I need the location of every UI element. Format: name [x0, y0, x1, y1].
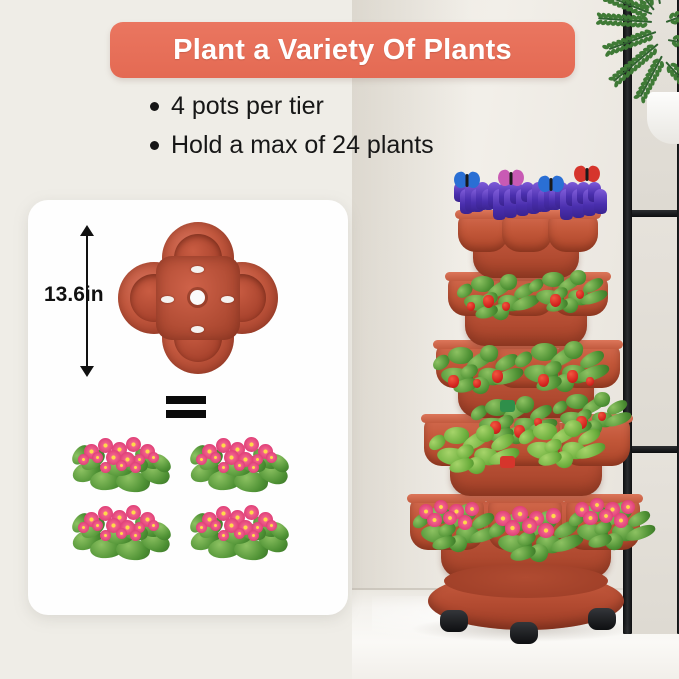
flower-blossom — [546, 508, 562, 524]
primrose-plant — [70, 500, 174, 562]
flower-blossom — [266, 452, 277, 463]
butterfly-body — [466, 174, 469, 187]
bullet-label: Hold a max of 24 plants — [171, 131, 434, 160]
planter-slot — [161, 296, 174, 303]
lavender-stem — [594, 189, 607, 214]
flower-blossom — [621, 500, 635, 514]
bullet-dot-icon — [150, 102, 159, 111]
flower-blossom — [126, 437, 141, 452]
tower-foliage — [514, 336, 598, 384]
infographic-canvas: Plant a Variety Of Plants 4 pots per tie… — [0, 0, 679, 679]
arrow-down-icon — [80, 366, 94, 377]
flower-blossom — [505, 520, 521, 536]
planter-slot — [191, 266, 204, 273]
strawberry-fruit — [550, 294, 561, 307]
strawberry-fruit — [448, 375, 459, 388]
planter-slot — [191, 326, 204, 333]
planter-top-view — [118, 222, 278, 374]
butterfly-decoration — [498, 170, 524, 187]
flower-blossom — [92, 452, 103, 463]
strawberry-fruit — [586, 377, 594, 386]
planter-slot — [221, 296, 234, 303]
flower-blossom — [248, 462, 259, 473]
flower-blossom — [210, 520, 221, 531]
flower-blossom — [583, 511, 597, 525]
flower-blossom — [196, 454, 207, 465]
tier-pot-cup — [548, 214, 598, 252]
strawberry-fruit — [467, 302, 475, 311]
flower-blossom — [210, 452, 221, 463]
plant-leaf — [475, 424, 495, 443]
butterfly-decoration — [454, 172, 480, 189]
banner-title: Plant a Variety Of Plants — [173, 34, 512, 67]
flower-blossom — [218, 462, 229, 473]
caster-wheel — [588, 608, 616, 630]
strawberry-fruit — [576, 290, 584, 299]
flower-blossom — [130, 462, 141, 473]
primrose-plant — [188, 432, 292, 494]
flower-blossom — [522, 518, 538, 534]
bullet-dot-icon — [150, 141, 159, 150]
flower-blossom — [130, 530, 141, 541]
plant-marker-pick — [500, 456, 515, 468]
title-banner: Plant a Variety Of Plants — [110, 22, 575, 78]
flower-blossom — [92, 520, 103, 531]
tower-foliage — [432, 340, 513, 386]
flower-blossom — [116, 460, 127, 471]
strawberry-fruit — [598, 412, 606, 421]
flower-blossom — [248, 530, 259, 541]
tower-foliage — [568, 498, 645, 542]
tower-foliage — [518, 416, 595, 460]
dimension-label: 13.6in — [44, 283, 104, 307]
flower-blossom — [78, 454, 89, 465]
flower-blossom — [244, 437, 259, 452]
butterfly-body — [510, 172, 513, 185]
plant-leaf — [479, 344, 499, 363]
strawberry-fruit — [492, 370, 503, 383]
strawberry-fruit — [567, 370, 578, 383]
butterfly-decoration — [538, 176, 564, 193]
fern-frond — [598, 16, 652, 24]
caddy-basin — [444, 564, 608, 598]
plant-leaf — [593, 391, 610, 408]
bullet-item: 4 pots per tier — [150, 92, 570, 121]
tower-foliage — [488, 506, 572, 554]
feature-bullet-list: 4 pots per tier Hold a max of 24 plants — [150, 92, 570, 170]
flower-blossom — [196, 522, 207, 533]
tier-pot-cup — [502, 214, 552, 252]
tower-foliage — [412, 500, 489, 544]
plant-capacity-grid — [70, 432, 300, 564]
fern-frond — [665, 2, 679, 24]
flower-blossom — [116, 528, 127, 539]
flower-blossom — [78, 522, 89, 533]
fern-frond — [665, 61, 679, 93]
fern-plant — [600, 0, 679, 140]
plant-leaf — [564, 340, 585, 360]
drain-hole — [190, 290, 205, 305]
flower-blossom — [218, 530, 229, 541]
flower-blossom — [458, 515, 472, 529]
tower-foliage — [528, 266, 598, 306]
plant-leaf — [499, 273, 517, 290]
caster-wheel — [510, 622, 538, 644]
flower-blossom — [126, 505, 141, 520]
flower-blossom — [427, 513, 441, 527]
fern-frond — [668, 38, 679, 50]
arrow-up-icon — [80, 225, 94, 236]
flower-blossom — [148, 452, 159, 463]
tower-foliage — [456, 270, 530, 312]
flower-blossom — [234, 460, 245, 471]
butterfly-decoration — [574, 166, 600, 183]
flower-blossom — [614, 513, 628, 527]
bullet-label: 4 pots per tier — [171, 92, 324, 121]
flower-blossom — [100, 462, 111, 473]
butterfly-body — [550, 178, 553, 191]
equals-symbol — [166, 396, 206, 418]
primrose-plant — [70, 432, 174, 494]
strawberry-fruit — [502, 302, 510, 311]
bullet-item: Hold a max of 24 plants — [150, 131, 570, 160]
plant-leaf — [569, 269, 586, 286]
primrose-plant — [188, 500, 292, 562]
plant-marker-pick — [500, 400, 515, 412]
tower-foliage — [428, 420, 509, 466]
caster-wheel — [440, 610, 468, 632]
flower-blossom — [148, 520, 159, 531]
butterfly-body — [586, 168, 589, 181]
flower-blossom — [266, 520, 277, 531]
flower-blossom — [100, 530, 111, 541]
flower-blossom — [234, 528, 245, 539]
product-planter-tower — [392, 170, 642, 640]
flower-blossom — [244, 505, 259, 520]
flower-blossom — [465, 502, 479, 516]
